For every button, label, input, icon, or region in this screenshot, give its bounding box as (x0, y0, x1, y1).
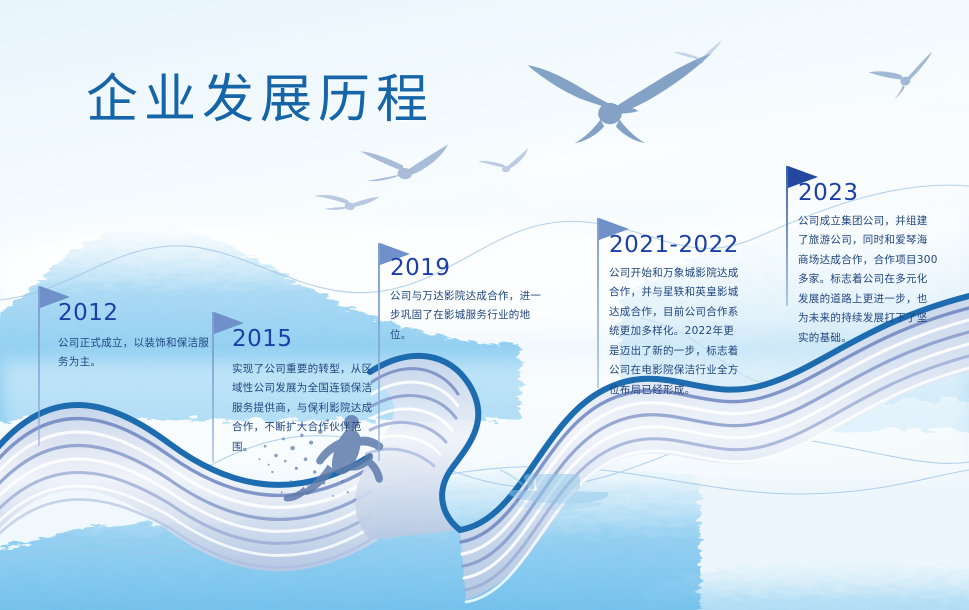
seagull-icon (673, 40, 726, 68)
watercolor-mountain-bottom-right (640, 560, 969, 610)
timeline-poster: 企业发展历程 2012 公司正式成立，以装饰和保洁服务为主。 2015 实现了公… (0, 0, 969, 610)
milestone-text: 公司与万达影院达成合作，进一步巩固了在影城服务行业的地位。 (390, 287, 546, 345)
milestone-year: 2019 (390, 255, 451, 281)
milestone-text: 公司正式成立，以装饰和保洁服务为主。 (58, 334, 218, 373)
milestone-text: 公司成立集团公司，并组建了旅游公司，同时和爱琴海商场达成合作，合作项目300多家… (798, 212, 938, 348)
seagull-icon (527, 53, 711, 143)
milestone-year: 2015 (232, 326, 293, 352)
watercolor-mountain-bottom (0, 455, 700, 610)
flowing-line-lower (0, 466, 969, 560)
milestone-year: 2012 (58, 300, 119, 326)
seagull-icon (312, 184, 379, 220)
seagull-icon (478, 148, 531, 174)
seagull-icon (869, 52, 943, 105)
milestone-text: 公司开始和万象城影院达成合作，并与星轶和英皇影城达成合作，目前公司合作系统更加多… (609, 264, 743, 400)
milestone-year: 2021-2022 (609, 232, 739, 258)
milestone-text: 实现了公司重要的转型，从区域性公司发展为全国连锁保洁服务提供商，与保利影院达成合… (232, 360, 380, 457)
seagull-icon (358, 135, 449, 189)
page-title: 企业发展历程 (86, 57, 434, 132)
milestone-year: 2023 (798, 180, 859, 206)
